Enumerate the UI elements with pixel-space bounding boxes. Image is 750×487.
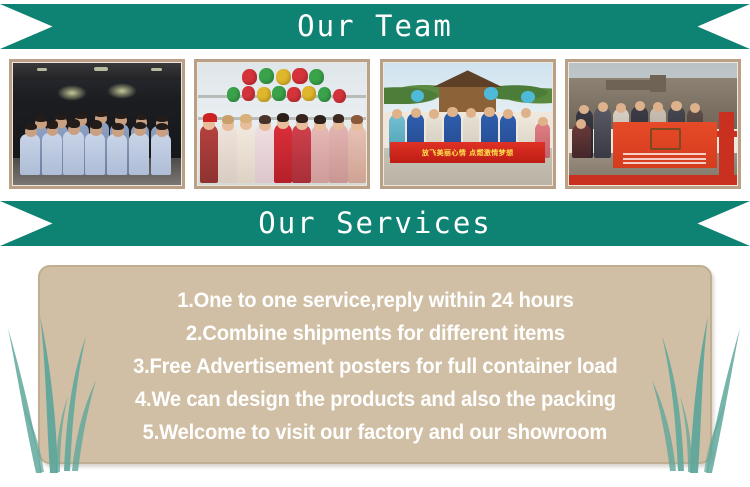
our-team-banner: Our Team [0, 4, 750, 49]
photo-company-flag [613, 122, 717, 168]
photo-company-flag-outing-photo[interactable] [565, 59, 741, 189]
photo-merry-christmas-party-photo-image [198, 63, 366, 185]
service-item-5: 5.Welcome to visit our factory and our s… [143, 419, 607, 448]
photo-outdoor-red-banner-text: 放飞美丽心情 点燃激情梦想 [422, 148, 514, 158]
services-list: 1.One to one service,reply within 24 hou… [38, 265, 712, 464]
photo-outdoor-team-building-photo-image: 放飞美丽心情 点燃激情梦想 [384, 63, 552, 185]
photo-outdoor-team-building-photo[interactable]: 放飞美丽心情 点燃激情梦想 [380, 59, 556, 189]
team-photo-strip: 放飞美丽心情 点燃激情梦想 [0, 59, 750, 191]
service-item-3: 3.Free Advertisement posters for full co… [133, 353, 617, 382]
photo-warehouse-team-group-photo[interactable] [9, 59, 185, 189]
service-item-4: 4.We can design the products and also th… [135, 386, 616, 415]
service-item-1: 1.One to one service,reply within 24 hou… [177, 287, 573, 316]
our-team-title: Our Team [297, 12, 453, 41]
photo-merry-christmas-party-photo[interactable] [194, 59, 370, 189]
photo-company-flag-outing-photo-image [569, 63, 737, 185]
services-panel: 1.One to one service,reply within 24 hou… [0, 262, 750, 487]
photo-warehouse-team-group-photo-image [13, 63, 181, 185]
our-services-title: Our Services [258, 209, 492, 238]
service-item-2: 2.Combine shipments for different items [186, 320, 565, 349]
our-services-banner: Our Services [0, 201, 750, 246]
photo-outdoor-red-banner: 放飞美丽心情 点燃激情梦想 [390, 142, 545, 163]
